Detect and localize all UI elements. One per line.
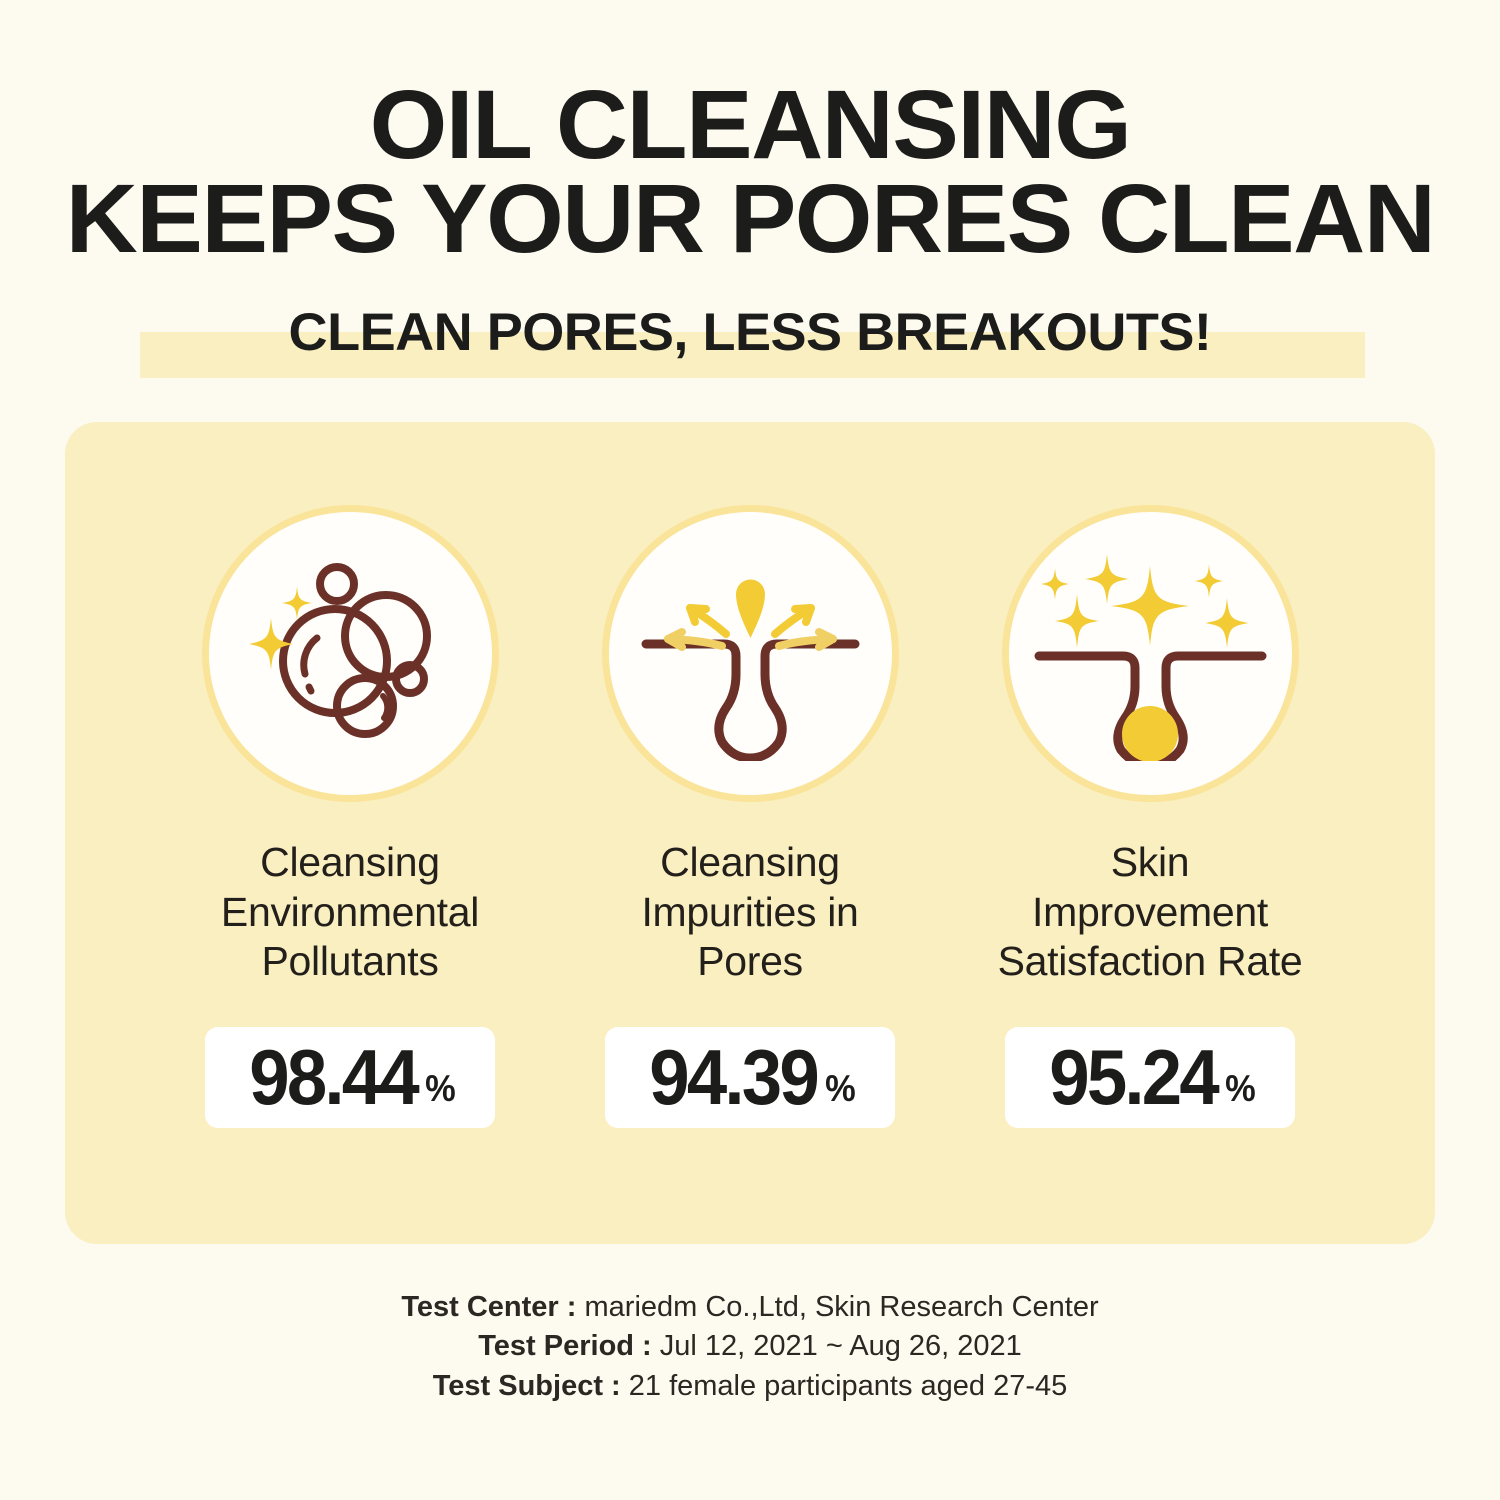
label-line: Cleansing bbox=[641, 838, 858, 888]
footer-value-test-period: Jul 12, 2021 ~ Aug 26, 2021 bbox=[652, 1330, 1022, 1362]
label-line: Pollutants bbox=[221, 937, 479, 987]
label-line: Improvement bbox=[998, 888, 1303, 938]
stat-value-box-3: 95.24 % bbox=[1005, 1027, 1295, 1128]
footer-key-test-center: Test Center : bbox=[401, 1291, 576, 1323]
header: OIL CLEANSING KEEPS YOUR PORES CLEAN CLE… bbox=[0, 0, 1500, 384]
stat-value-1: 98.44 bbox=[249, 1038, 417, 1116]
label-line: Impurities in bbox=[641, 888, 858, 938]
stat-card-label-2: CleansingImpurities inPores bbox=[641, 838, 858, 987]
title-line-1: OIL CLEANSING bbox=[0, 78, 1500, 172]
stats-card-list: CleansingEnvironmentalPollutants 98.44 % bbox=[65, 422, 1435, 1244]
stat-value-box-2: 94.39 % bbox=[605, 1027, 895, 1128]
stat-card-label-3: SkinImprovementSatisfaction Rate bbox=[998, 838, 1303, 987]
footer: Test Center : mariedm Co.,Ltd, Skin Rese… bbox=[0, 1288, 1500, 1406]
stat-unit-2: % bbox=[825, 1068, 856, 1110]
subtitle: CLEAN PORES, LESS BREAKOUTS! bbox=[0, 302, 1500, 364]
subtitle-container: CLEAN PORES, LESS BREAKOUTS! bbox=[0, 302, 1500, 384]
stat-value-2: 94.39 bbox=[649, 1038, 817, 1116]
footer-line-test-center: Test Center : mariedm Co.,Ltd, Skin Rese… bbox=[0, 1288, 1500, 1327]
stat-card-skin-improvement-satisfaction-rate: SkinImprovementSatisfaction Rate 95.24 % bbox=[970, 422, 1330, 1244]
stats-panel: CleansingEnvironmentalPollutants 98.44 % bbox=[65, 422, 1435, 1244]
stat-card-label-1: CleansingEnvironmentalPollutants bbox=[221, 838, 479, 987]
clean-pore-sparkle-icon bbox=[1033, 546, 1268, 761]
icon-circle-3 bbox=[1002, 505, 1299, 802]
footer-key-test-period: Test Period : bbox=[478, 1330, 652, 1362]
footer-line-test-subject: Test Subject : 21 female participants ag… bbox=[0, 1367, 1500, 1406]
stat-unit-1: % bbox=[425, 1068, 456, 1110]
title-line-2: KEEPS YOUR PORES CLEAN bbox=[0, 172, 1500, 266]
icon-circle-2 bbox=[602, 505, 899, 802]
icon-circle-1 bbox=[202, 505, 499, 802]
stat-value-box-1: 98.44 % bbox=[205, 1027, 495, 1128]
label-line: Skin bbox=[998, 838, 1303, 888]
stat-value-3: 95.24 bbox=[1049, 1038, 1217, 1116]
stat-card-cleansing-impurities-in-pores: CleansingImpurities inPores 94.39 % bbox=[570, 422, 930, 1244]
stat-unit-3: % bbox=[1225, 1068, 1256, 1110]
pore-extraction-icon bbox=[638, 546, 863, 761]
bubbles-sparkle-icon bbox=[243, 546, 458, 761]
label-line: Satisfaction Rate bbox=[998, 937, 1303, 987]
label-line: Environmental bbox=[221, 888, 479, 938]
stat-card-cleansing-environmental-pollutants: CleansingEnvironmentalPollutants 98.44 % bbox=[170, 422, 530, 1244]
page-title: OIL CLEANSING KEEPS YOUR PORES CLEAN bbox=[0, 78, 1500, 266]
footer-key-test-subject: Test Subject : bbox=[433, 1370, 621, 1402]
label-line: Pores bbox=[641, 937, 858, 987]
label-line: Cleansing bbox=[221, 838, 479, 888]
footer-value-test-center: mariedm Co.,Ltd, Skin Research Center bbox=[576, 1291, 1098, 1323]
footer-value-test-subject: 21 female participants aged 27-45 bbox=[621, 1370, 1068, 1402]
footer-line-test-period: Test Period : Jul 12, 2021 ~ Aug 26, 202… bbox=[0, 1327, 1500, 1366]
